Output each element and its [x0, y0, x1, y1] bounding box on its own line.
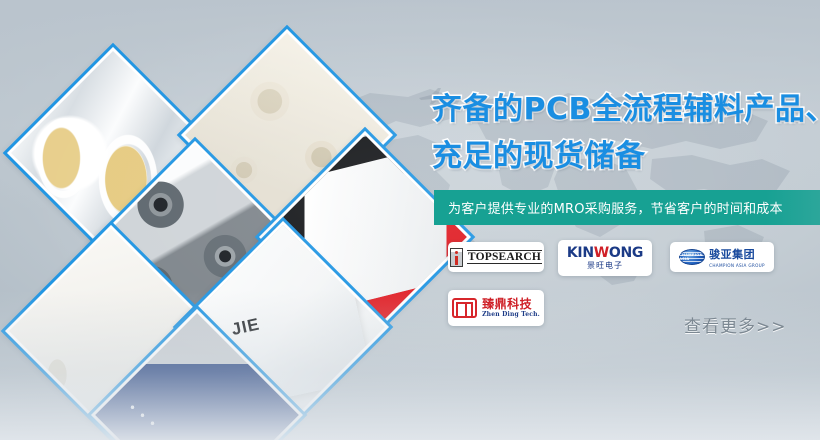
topsearch-mark-icon [450, 248, 463, 267]
product-diamond-collage [0, 0, 420, 440]
view-more-link[interactable]: 查看更多>> [684, 312, 787, 337]
kinwong-name-en: KINWONG [567, 246, 643, 260]
subtitle-text: 为客户提供专业的MRO采购服务，节省客户的时间和成本 [434, 198, 783, 217]
topsearch-name: TOPSEARCH [467, 250, 542, 264]
champion-name-cn: 骏亚集团 [709, 248, 755, 261]
zhending-mark-icon [452, 298, 477, 318]
logo-champion-asia[interactable]: CHAMPION ASIA 骏亚集团 CHAMPION ASIA GROUP [670, 242, 774, 272]
logo-zhen-ding[interactable]: 臻鼎科技 Zhen Ding Tech. [448, 290, 544, 326]
kinwong-kin: KIN [567, 245, 594, 261]
globe-icon: CHAMPION ASIA [679, 249, 705, 265]
logo-kinwong[interactable]: KINWONG 景旺电子 [558, 240, 652, 276]
globe-label: CHAMPION ASIA [679, 249, 705, 265]
kinwong-name-cn: 景旺电子 [567, 262, 643, 270]
headline-block: 齐备的PCB全流程辅料产品、 充足的现货储备 [432, 86, 820, 180]
zhending-name-cn: 臻鼎科技 [482, 298, 540, 310]
logo-topsearch[interactable]: TOPSEARCH [448, 242, 544, 272]
kinwong-ong: ONG [609, 245, 643, 261]
headline-line-1: 齐备的PCB全流程辅料产品、 [432, 86, 820, 133]
headline-line-2: 充足的现货储备 [432, 133, 820, 180]
zhending-name-en: Zhen Ding Tech. [482, 312, 540, 318]
subtitle-bar: 为客户提供专业的MRO采购服务，节省客户的时间和成本 [434, 190, 820, 225]
champion-name-en: CHAMPION ASIA GROUP [709, 264, 765, 268]
promo-banner: 齐备的PCB全流程辅料产品、 充足的现货储备 为客户提供专业的MRO采购服务，节… [0, 0, 820, 440]
kinwong-w-accent: W [594, 245, 609, 261]
